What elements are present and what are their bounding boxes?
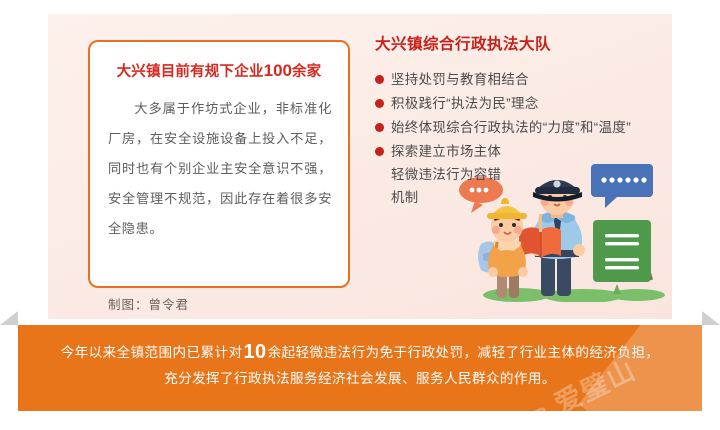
- banner-text-part1: 今年以来全镇范围内已累计对: [61, 345, 243, 360]
- banner-number: 10: [243, 341, 268, 363]
- right-panel-title: 大兴镇综合行政执法大队: [375, 32, 665, 54]
- ribbon-fold-right: [702, 311, 720, 325]
- bullet-text: 探索建立市场主体轻微违法行为容错机制: [391, 140, 509, 209]
- bullet-dot-icon: [375, 75, 384, 84]
- summary-banner: 今年以来全镇范围内已累计对10余起轻微违法行为免于行政处罚，减轻了行业主体的经济…: [18, 325, 702, 411]
- ribbon-folds: [18, 311, 702, 325]
- list-item: 始终体现综合行政执法的“力度”和“温度”: [375, 116, 665, 139]
- right-column: 大兴镇综合行政执法大队 坚持处罚与教育相结合 积极践行“执法为民”理念 始终体现…: [375, 32, 665, 210]
- list-item: 探索建立市场主体轻微违法行为容错机制: [375, 140, 665, 209]
- child-with-hardhat: [478, 198, 528, 298]
- bullet-dot-icon: [375, 99, 384, 108]
- stat-card-title-suffix: 余家: [292, 64, 321, 80]
- stat-card-title-prefix: 大兴镇目前有规下企业: [117, 64, 264, 80]
- bullet-dot-icon: [375, 147, 384, 156]
- bullet-dot-icon: [375, 123, 384, 132]
- watermark-logo: AB: [517, 402, 554, 411]
- stat-card-number: 100: [264, 61, 292, 80]
- bullet-text: 积极践行“执法为民”理念: [391, 92, 665, 115]
- bullet-text: 坚持处罚与教育相结合: [391, 68, 665, 91]
- green-notice-board: [593, 220, 651, 282]
- list-item: 坚持处罚与教育相结合: [375, 68, 665, 91]
- banner-text: 今年以来全镇范围内已累计对10余起轻微违法行为免于行政处罚，减轻了行业主体的经济…: [56, 339, 664, 392]
- stat-card-title: 大兴镇目前有规下企业100余家: [90, 60, 348, 81]
- bullet-list: 坚持处罚与教育相结合 积极践行“执法为民”理念 始终体现综合行政执法的“力度”和…: [375, 68, 665, 209]
- stat-card: 大兴镇目前有规下企业100余家 大多属于作坊式企业，非标准化厂房，在安全设施设备…: [88, 40, 350, 288]
- list-item: 积极践行“执法为民”理念: [375, 92, 665, 115]
- bullet-text: 始终体现综合行政执法的“力度”和“温度”: [391, 116, 665, 139]
- ribbon-fold-left: [0, 311, 18, 325]
- stat-card-body: 大多属于作坊式企业，非标准化厂房，在安全设施设备上投入不足，同时也有个别企业主安…: [108, 94, 332, 244]
- infographic-poster: 大兴镇目前有规下企业100余家 大多属于作坊式企业，非标准化厂房，在安全设施设备…: [0, 0, 720, 430]
